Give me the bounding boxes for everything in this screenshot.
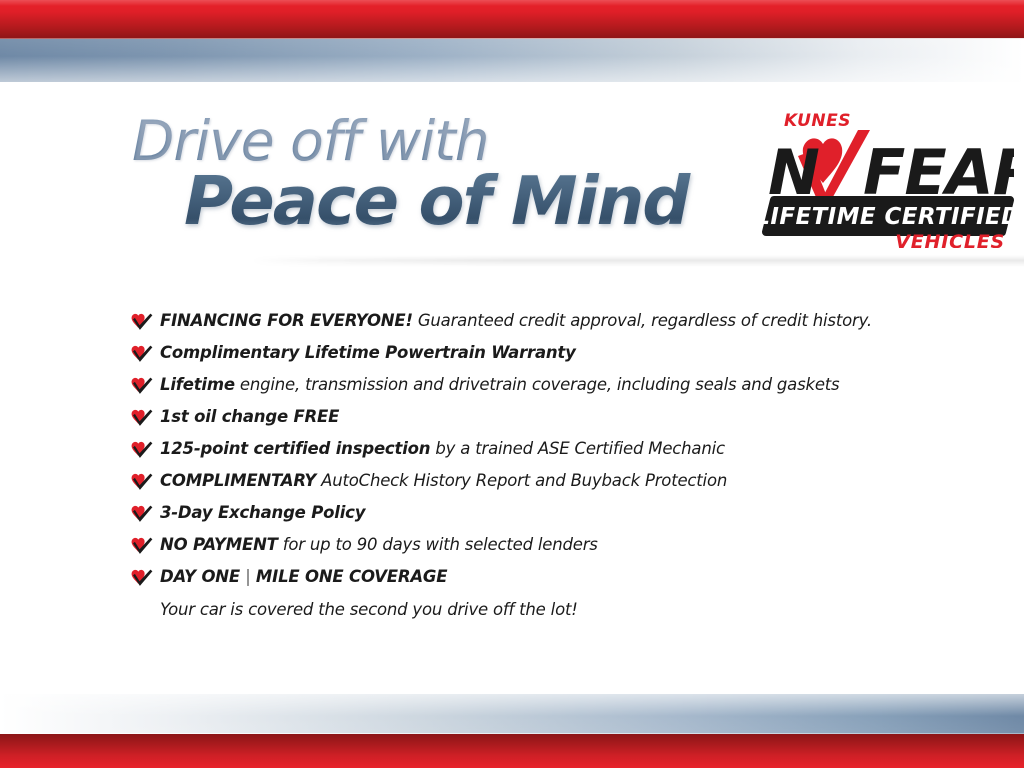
list-item-normal: for up to 90 days with selected lenders xyxy=(278,535,598,554)
list-item-normal: AutoCheck History Report and Buyback Pro… xyxy=(316,471,727,490)
list-item-bold: 125-point certified inspection xyxy=(160,439,430,458)
list-item-text: 1st oil change FREE xyxy=(160,406,339,428)
list-item: DAY ONE | MILE ONE COVERAGE Your car is … xyxy=(130,566,950,621)
heart-check-icon xyxy=(130,439,154,461)
logo-lifetime-bar: LIFETIME CERTIFIED xyxy=(762,200,1014,232)
headline-divider-shadow xyxy=(250,255,1024,267)
list-item-bold: 3-Day Exchange Policy xyxy=(160,503,365,522)
list-item-normal: Guaranteed credit approval, regardless o… xyxy=(413,311,872,330)
logo-brand-text: KUNES xyxy=(784,111,851,131)
logo-vehicles-text: VEHICLES xyxy=(895,231,1005,248)
list-item: NO PAYMENT for up to 90 days with select… xyxy=(130,534,950,566)
list-item-subtext: Your car is covered the second you drive… xyxy=(160,599,950,621)
list-item-bold: Lifetime xyxy=(160,375,235,394)
bottom-red-band xyxy=(0,734,1024,768)
heart-check-icon xyxy=(130,503,154,525)
heart-check-icon xyxy=(130,567,154,589)
top-blue-band-fade xyxy=(0,39,1024,82)
list-item-text: COMPLIMENTARY AutoCheck History Report a… xyxy=(160,470,727,492)
logo-bar-text: LIFETIME CERTIFIED xyxy=(762,204,1014,230)
heart-check-icon xyxy=(130,311,154,333)
list-item-separator: | xyxy=(245,567,251,586)
list-item-text: 3-Day Exchange Policy xyxy=(160,502,365,524)
heart-check-icon xyxy=(130,407,154,429)
list-item: 125-point certified inspection by a trai… xyxy=(130,438,950,470)
headline-block: Drive off with Peace of Mind xyxy=(132,112,732,236)
heart-check-icon xyxy=(130,535,154,557)
list-item: Lifetime engine, transmission and drivet… xyxy=(130,374,950,406)
list-item-bold: COMPLIMENTARY xyxy=(160,471,316,490)
list-item: Complimentary Lifetime Powertrain Warran… xyxy=(130,342,950,374)
list-item-bold: FINANCING FOR EVERYONE! xyxy=(160,311,413,330)
kunes-no-fear-logo: KUNES N FEAR LIFETIME CERTIFIED VEHICLES xyxy=(762,106,1014,248)
list-item-bold: NO PAYMENT xyxy=(160,535,278,554)
list-item-normal: engine, transmission and drivetrain cove… xyxy=(235,375,840,394)
list-item: 3-Day Exchange Policy xyxy=(130,502,950,534)
top-red-highlight xyxy=(0,0,1024,6)
list-item-bold: Complimentary Lifetime Powertrain Warran… xyxy=(160,343,576,362)
list-item-text: Lifetime engine, transmission and drivet… xyxy=(160,374,839,396)
top-red-band xyxy=(0,0,1024,39)
bottom-blue-band-fade xyxy=(0,694,1024,734)
list-item-text: 125-point certified inspection by a trai… xyxy=(160,438,725,460)
benefits-list: FINANCING FOR EVERYONE! Guaranteed credi… xyxy=(130,310,950,621)
heart-check-icon xyxy=(130,343,154,365)
list-item: 1st oil change FREE xyxy=(130,406,950,438)
list-item: COMPLIMENTARY AutoCheck History Report a… xyxy=(130,470,950,502)
list-item-main: DAY ONE | MILE ONE COVERAGE xyxy=(130,566,950,598)
list-item-text: DAY ONE | MILE ONE COVERAGE xyxy=(160,566,447,588)
list-item-text: FINANCING FOR EVERYONE! Guaranteed credi… xyxy=(160,310,872,332)
heart-check-icon xyxy=(130,375,154,397)
list-item-bold: 1st oil change FREE xyxy=(160,407,339,426)
list-item: FINANCING FOR EVERYONE! Guaranteed credi… xyxy=(130,310,950,342)
headline-line-2: Peace of Mind xyxy=(184,166,732,236)
list-item-text: Complimentary Lifetime Powertrain Warran… xyxy=(160,342,576,364)
list-item-text: NO PAYMENT for up to 90 days with select… xyxy=(160,534,598,556)
list-item-bold-b: MILE ONE COVERAGE xyxy=(256,567,447,586)
flyer-page: Drive off with Peace of Mind KUNES N FEA… xyxy=(0,0,1024,768)
list-item-bold-a: DAY ONE xyxy=(160,567,240,586)
heart-check-icon xyxy=(130,471,154,493)
list-item-normal: by a trained ASE Certified Mechanic xyxy=(430,439,725,458)
